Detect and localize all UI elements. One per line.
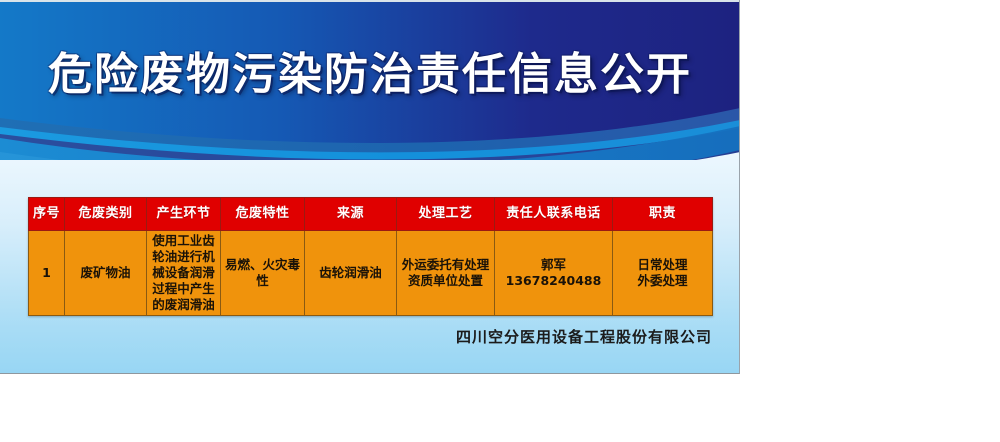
duty-line-2: 外委处理: [615, 273, 710, 289]
contact-name: 郭军: [497, 257, 610, 273]
column-header-contact: 责任人联系电话: [495, 198, 613, 231]
cell-contact: 郭军 13678240488: [495, 231, 613, 316]
column-header-index: 序号: [29, 198, 65, 231]
column-header-duty: 职责: [613, 198, 713, 231]
contact-phone: 13678240488: [497, 273, 610, 289]
waste-info-table: 序号 危废类别 产生环节 危废特性 来源 处理工艺 责任人联系电话 职责 1 废…: [28, 197, 713, 316]
cell-duty: 日常处理 外委处理: [613, 231, 713, 316]
cell-index: 1: [29, 231, 65, 316]
banner-wave-graphic: [0, 0, 740, 160]
hazardous-waste-poster: 危险废物污染防治责任信息公开 序号 危废类别 产生环节 危废特性 来源 处理: [0, 0, 740, 374]
cell-category: 废矿物油: [65, 231, 147, 316]
company-name: 四川空分医用设备工程股份有限公司: [456, 328, 712, 346]
cell-characteristic: 易燃、火灾毒性: [221, 231, 305, 316]
column-header-source: 来源: [305, 198, 397, 231]
cell-process: 外运委托有处理资质单位处置: [397, 231, 495, 316]
waste-info-table-wrap: 序号 危废类别 产生环节 危废特性 来源 处理工艺 责任人联系电话 职责 1 废…: [28, 197, 713, 316]
poster-banner: 危险废物污染防治责任信息公开: [0, 0, 740, 160]
cell-source: 齿轮润滑油: [305, 231, 397, 316]
table-row: 1 废矿物油 使用工业齿轮油进行机械设备润滑过程中产生的废润滑油 易燃、火灾毒性…: [29, 231, 713, 316]
column-header-stage: 产生环节: [147, 198, 221, 231]
poster-footer: 四川空分医用设备工程股份有限公司: [0, 326, 712, 347]
column-header-characteristic: 危废特性: [221, 198, 305, 231]
table-header-row: 序号 危废类别 产生环节 危废特性 来源 处理工艺 责任人联系电话 职责: [29, 198, 713, 231]
poster-canvas: 危险废物污染防治责任信息公开 序号 危废类别 产生环节 危废特性 来源 处理: [0, 0, 1000, 442]
column-header-process: 处理工艺: [397, 198, 495, 231]
cell-stage: 使用工业齿轮油进行机械设备润滑过程中产生的废润滑油: [147, 231, 221, 316]
duty-line-1: 日常处理: [615, 257, 710, 273]
column-header-category: 危废类别: [65, 198, 147, 231]
